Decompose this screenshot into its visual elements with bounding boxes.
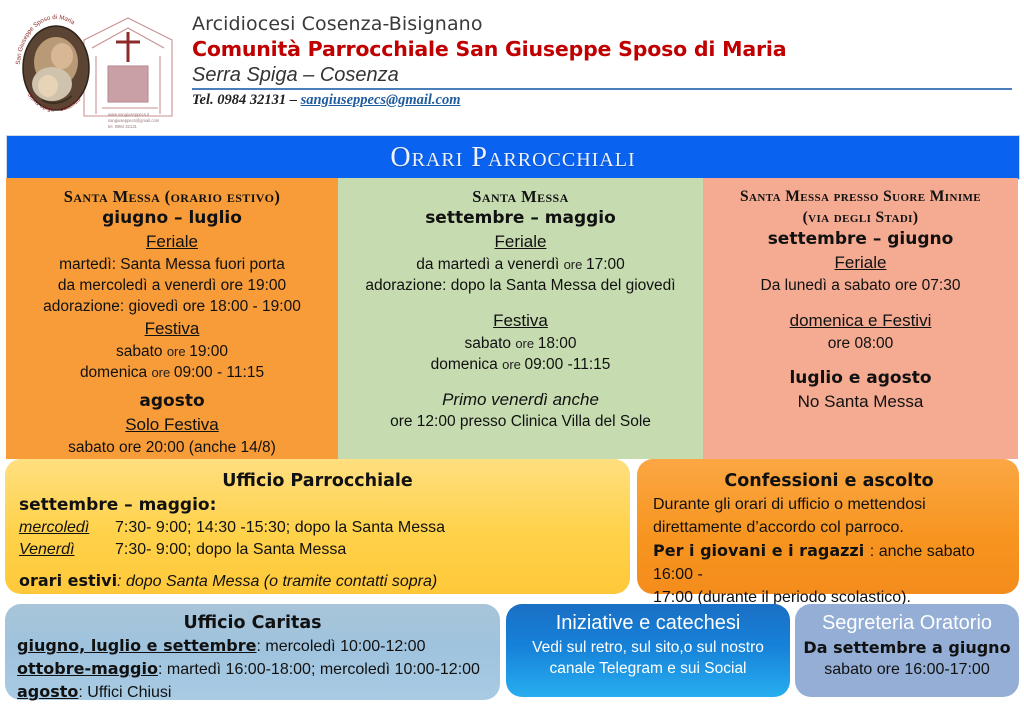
schedule-columns: Santa Messa (orario estivo) giugno – lug… bbox=[6, 178, 1018, 459]
diocese-name: Arcidiocesi Cosenza-Bisignano bbox=[192, 12, 1012, 36]
column-subheading-2: luglio e agosto bbox=[703, 367, 1018, 390]
section-label-domenica-festivi: domenica e Festivi bbox=[703, 309, 1018, 333]
caritas-period: agosto bbox=[17, 682, 78, 701]
svg-text:tel. 0984 32131: tel. 0984 32131 bbox=[108, 124, 138, 129]
confessioni-line: Per i giovani e i ragazzi : anche sabato… bbox=[653, 539, 1005, 586]
column-subheading: giugno – luglio bbox=[6, 207, 338, 230]
segreteria-hours: sabato ore 16:00-17:00 bbox=[801, 659, 1013, 681]
schedule-line: da martedì a venerdì ore 17:00 bbox=[338, 254, 703, 275]
panel-ufficio-caritas: Ufficio Caritas giugno, luglio e settemb… bbox=[5, 604, 500, 700]
panel-title: Ufficio Caritas bbox=[17, 611, 488, 635]
day-name: da martedì a venerdì bbox=[416, 256, 563, 273]
iniziative-line: canale Telegram e sui Social bbox=[514, 658, 782, 679]
panel-title: Segreteria Oratorio bbox=[801, 610, 1013, 637]
confessioni-line: direttamente d’accordo col parroco. bbox=[653, 516, 1005, 539]
schedule-line: adorazione: giovedì ore 18:00 - 19:00 bbox=[6, 296, 338, 317]
header-text-block: Arcidiocesi Cosenza-Bisignano Comunità P… bbox=[192, 12, 1012, 88]
column-santa-messa-invernale: Santa Messa settembre – maggio Feriale d… bbox=[338, 178, 703, 459]
page-title: Orari Parrocchiali bbox=[390, 142, 635, 174]
closing-note: No Santa Messa bbox=[703, 390, 1018, 413]
ufficio-period: settembre – maggio: bbox=[19, 493, 616, 517]
caritas-hours: : Uffici Chiusi bbox=[78, 684, 171, 701]
svg-text:www.sangiuseppecs.it: www.sangiuseppecs.it bbox=[108, 112, 150, 117]
svg-text:sangiuseppecs@gmail.com: sangiuseppecs@gmail.com bbox=[108, 118, 160, 123]
section-label-feriale: Feriale bbox=[6, 230, 338, 254]
parish-schedule-poster: San Giuseppe Sposo di Maria Serra Spiga … bbox=[0, 0, 1024, 705]
special-note-title: Primo venerdì anche bbox=[338, 388, 703, 411]
section-label-festiva: Festiva bbox=[338, 309, 703, 333]
column-subheading-2: agosto bbox=[6, 390, 338, 413]
time-value: 09:00 - 11:15 bbox=[174, 364, 264, 381]
ore-label: ore bbox=[151, 365, 173, 380]
ore-label: ore bbox=[564, 257, 586, 272]
section-label-solo-festiva: Solo Festiva bbox=[6, 413, 338, 437]
parish-location: Serra Spiga – Cosenza bbox=[192, 62, 1012, 88]
time-value: 18:00 bbox=[538, 335, 577, 352]
caritas-period: giugno, luglio e settembre bbox=[17, 636, 256, 655]
hours-value: 7:30- 9:00; dopo la Santa Messa bbox=[115, 541, 346, 558]
parish-name: Comunità Parrocchiale San Giuseppe Sposo… bbox=[192, 36, 1012, 62]
day-label: Venerdì bbox=[19, 539, 115, 561]
column-heading: Santa Messa presso Suore Minime bbox=[703, 186, 1018, 207]
schedule-line: adorazione: dopo la Santa Messa del giov… bbox=[338, 275, 703, 296]
panel-title: Confessioni e ascolto bbox=[653, 469, 1005, 493]
column-heading: Santa Messa (orario estivo) bbox=[6, 186, 338, 207]
ore-label: ore bbox=[167, 344, 189, 359]
schedule-line: da mercoledì a venerdì ore 19:00 bbox=[6, 275, 338, 296]
caritas-hours: : mercoledì 10:00-12:00 bbox=[256, 638, 425, 655]
confessioni-line: Durante gli orari di ufficio o mettendos… bbox=[653, 493, 1005, 516]
schedule-line: ore 08:00 bbox=[703, 333, 1018, 354]
page-title-bar: Orari Parrocchiali bbox=[6, 135, 1020, 180]
phone-number: Tel. 0984 32131 – bbox=[192, 92, 301, 108]
ore-label: ore bbox=[515, 336, 537, 351]
ore-label: ore bbox=[502, 357, 524, 372]
caritas-row: giugno, luglio e settembre: mercoledì 10… bbox=[17, 635, 488, 658]
schedule-line: Da lunedì a sabato ore 07:30 bbox=[703, 275, 1018, 296]
schedule-line: sabato ore 19:00 bbox=[6, 341, 338, 362]
segreteria-period: Da settembre a giugno bbox=[801, 637, 1013, 659]
schedule-line: domenica ore 09:00 - 11:15 bbox=[6, 362, 338, 383]
summer-text: : dopo Santa Messa (o tramite contatti s… bbox=[117, 573, 437, 590]
schedule-line: sabato ore 20:00 (anche 14/8) bbox=[6, 437, 338, 458]
section-label-feriale: Feriale bbox=[703, 251, 1018, 275]
caritas-row: ottobre-maggio: martedì 16:00-18:00; mer… bbox=[17, 658, 488, 681]
hours-value: 7:30- 9:00; 14:30 -15:30; dopo la Santa … bbox=[115, 519, 445, 536]
caritas-hours: : martedì 16:00-18:00; mercoledì 10:00-1… bbox=[158, 661, 480, 678]
column-subheading: settembre – giugno bbox=[703, 228, 1018, 251]
section-label-festiva: Festiva bbox=[6, 317, 338, 341]
column-santa-messa-suore-minime: Santa Messa presso Suore Minime (via deg… bbox=[703, 178, 1018, 459]
day-name: domenica bbox=[80, 364, 152, 381]
day-label: mercoledì bbox=[19, 517, 115, 539]
time-value: 09:00 -11:15 bbox=[525, 356, 611, 373]
schedule-line: sabato ore 18:00 bbox=[338, 333, 703, 354]
contact-line: Tel. 0984 32131 – sangiuseppecs@gmail.co… bbox=[192, 90, 461, 110]
day-name: sabato bbox=[116, 343, 167, 360]
header: San Giuseppe Sposo di Maria Serra Spiga … bbox=[0, 0, 1024, 133]
giovani-label: Per i giovani e i ragazzi bbox=[653, 541, 870, 560]
column-subheading: settembre – maggio bbox=[338, 207, 703, 230]
section-label-feriale: Feriale bbox=[338, 230, 703, 254]
ufficio-row: mercoledì7:30- 9:00; 14:30 -15:30; dopo … bbox=[19, 517, 616, 539]
ufficio-row: Venerdì7:30- 9:00; dopo la Santa Messa bbox=[19, 539, 616, 561]
panel-confessioni: Confessioni e ascolto Durante gli orari … bbox=[637, 459, 1019, 594]
day-name: sabato bbox=[464, 335, 515, 352]
parish-logo: San Giuseppe Sposo di Maria Serra Spiga … bbox=[12, 4, 180, 132]
time-value: 19:00 bbox=[189, 343, 228, 360]
panel-title: Ufficio Parrocchiale bbox=[19, 469, 616, 493]
ufficio-summer-row: orari estivi: dopo Santa Messa (o tramit… bbox=[19, 570, 616, 593]
column-heading-address: (via degli Stadi) bbox=[703, 207, 1018, 228]
panel-iniziative-catechesi: Iniziative e catechesi Vedi sul retro, s… bbox=[506, 604, 790, 697]
schedule-line: martedì: Santa Messa fuori porta bbox=[6, 254, 338, 275]
email-link[interactable]: sangiuseppecs@gmail.com bbox=[301, 92, 461, 108]
caritas-period: ottobre-maggio bbox=[17, 659, 158, 678]
caritas-row: agosto: Uffici Chiusi bbox=[17, 681, 488, 704]
panel-segreteria-oratorio: Segreteria Oratorio Da settembre a giugn… bbox=[795, 604, 1019, 697]
column-santa-messa-estivo: Santa Messa (orario estivo) giugno – lug… bbox=[6, 178, 338, 459]
schedule-line: domenica ore 09:00 -11:15 bbox=[338, 354, 703, 375]
iniziative-line: Vedi sul retro, sul sito,o sul nostro bbox=[514, 637, 782, 658]
day-name: domenica bbox=[431, 356, 503, 373]
panel-ufficio-parrocchiale: Ufficio Parrocchiale settembre – maggio:… bbox=[5, 459, 630, 594]
time-value: 17:00 bbox=[586, 256, 625, 273]
summer-label: orari estivi bbox=[19, 571, 117, 590]
special-note-line: ore 12:00 presso Clinica Villa del Sole bbox=[338, 411, 703, 432]
panel-title: Iniziative e catechesi bbox=[514, 610, 782, 637]
column-heading: Santa Messa bbox=[338, 186, 703, 207]
